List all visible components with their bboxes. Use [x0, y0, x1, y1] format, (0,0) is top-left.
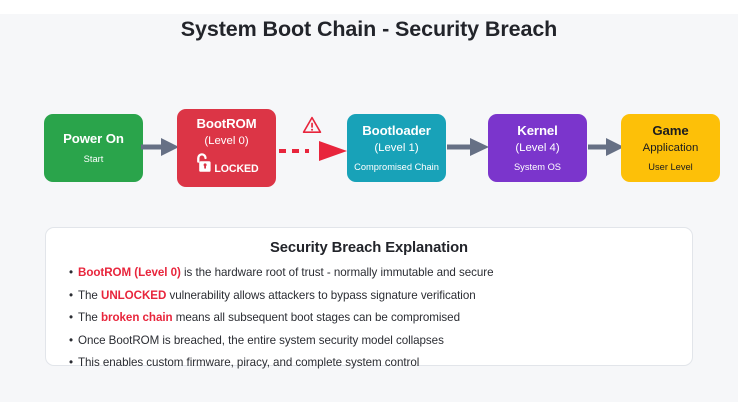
flow-node-level: Application — [643, 142, 699, 155]
connector-kernel-to-game — [588, 136, 624, 158]
list-item: This enables custom firmware, piracy, an… — [69, 357, 692, 369]
list-item: BootROM (Level 0) is the hardware root o… — [69, 267, 692, 279]
flow-node-kernel[interactable]: Kernel (Level 4) System OS — [488, 114, 587, 182]
bullet-lead: The — [78, 311, 101, 324]
explanation-bullet-list: BootROM (Level 0) is the hardware root o… — [46, 267, 692, 369]
list-item: The UNLOCKED vulnerability allows attack… — [69, 290, 692, 302]
panel-title: Security Breach Explanation — [46, 240, 692, 256]
boot-chain-flow: Power On Start BootROM (Level 0) — [0, 102, 738, 192]
security-breach-explanation-panel: Security Breach Explanation BootROM (Lev… — [45, 227, 693, 366]
page-title: System Boot Chain - Security Breach — [0, 17, 738, 42]
flow-node-bootrom[interactable]: BootROM (Level 0) LOCKED — [177, 109, 276, 187]
connector-bootrom-to-bootloader — [279, 116, 349, 178]
flow-node-title: Game — [652, 124, 688, 139]
flow-node-subtitle: System OS — [514, 162, 561, 172]
list-item: The broken chain means all subsequent bo… — [69, 312, 692, 324]
bullet-highlight: UNLOCKED — [101, 289, 166, 302]
lock-label: LOCKED — [214, 164, 258, 175]
bullet-rest: vulnerability allows attackers to bypass… — [166, 289, 475, 302]
flow-node-bootloader[interactable]: Bootloader (Level 1) Compromised Chain — [347, 114, 446, 182]
bullet-rest: Once BootROM is breached, the entire sys… — [78, 334, 444, 347]
broken-chain-arrow — [279, 140, 349, 162]
flow-node-title: BootROM — [196, 117, 256, 132]
flow-node-subtitle: Start — [84, 154, 104, 164]
bullet-lead: The — [78, 289, 101, 302]
flow-node-game[interactable]: Game Application User Level — [621, 114, 720, 182]
flow-node-level: (Level 0) — [204, 135, 248, 148]
bullet-rest: means all subsequent boot stages can be … — [173, 311, 460, 324]
flow-node-level: (Level 1) — [374, 142, 418, 155]
flow-node-title: Kernel — [517, 124, 557, 139]
flow-node-subtitle: User Level — [648, 162, 692, 172]
flow-node-level: (Level 4) — [515, 142, 559, 155]
bullet-highlight: broken chain — [101, 311, 173, 324]
flow-node-subtitle: Compromised Chain — [354, 162, 439, 172]
unlocked-padlock-icon — [194, 152, 213, 179]
diagram-page: System Boot Chain - Security Breach Powe… — [0, 0, 738, 420]
flow-node-power-on[interactable]: Power On Start — [44, 114, 143, 182]
connector-power-to-bootrom — [141, 136, 179, 158]
flow-node-title: Power On — [63, 132, 124, 147]
bullet-highlight: BootROM (Level 0) — [78, 266, 181, 279]
lock-status: LOCKED — [194, 152, 258, 179]
bullet-rest: is the hardware root of trust - normally… — [181, 266, 494, 279]
connector-bootloader-to-kernel — [447, 136, 489, 158]
list-item: Once BootROM is breached, the entire sys… — [69, 335, 692, 347]
flow-node-title: Bootloader — [362, 124, 431, 139]
bullet-rest: This enables custom firmware, piracy, an… — [78, 356, 419, 369]
warning-triangle-icon — [302, 116, 322, 134]
